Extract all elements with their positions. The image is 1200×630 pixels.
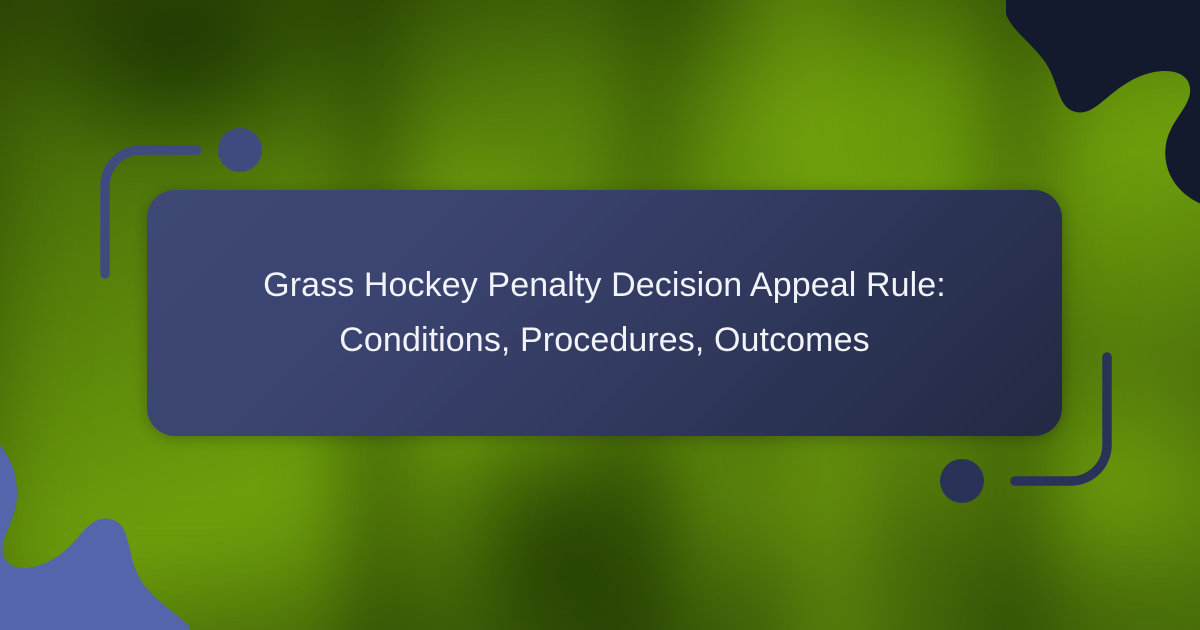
title-card: Grass Hockey Penalty Decision Appeal Rul…	[147, 190, 1062, 436]
navy-corner-blob-icon	[976, 0, 1200, 206]
periwinkle-corner-blob-icon	[0, 431, 209, 630]
accent-circle-top-left-icon	[218, 128, 262, 172]
accent-circle-bottom-right-icon	[940, 459, 984, 503]
page-title: Grass Hockey Penalty Decision Appeal Rul…	[205, 258, 1004, 368]
social-card-canvas: Grass Hockey Penalty Decision Appeal Rul…	[0, 0, 1200, 630]
